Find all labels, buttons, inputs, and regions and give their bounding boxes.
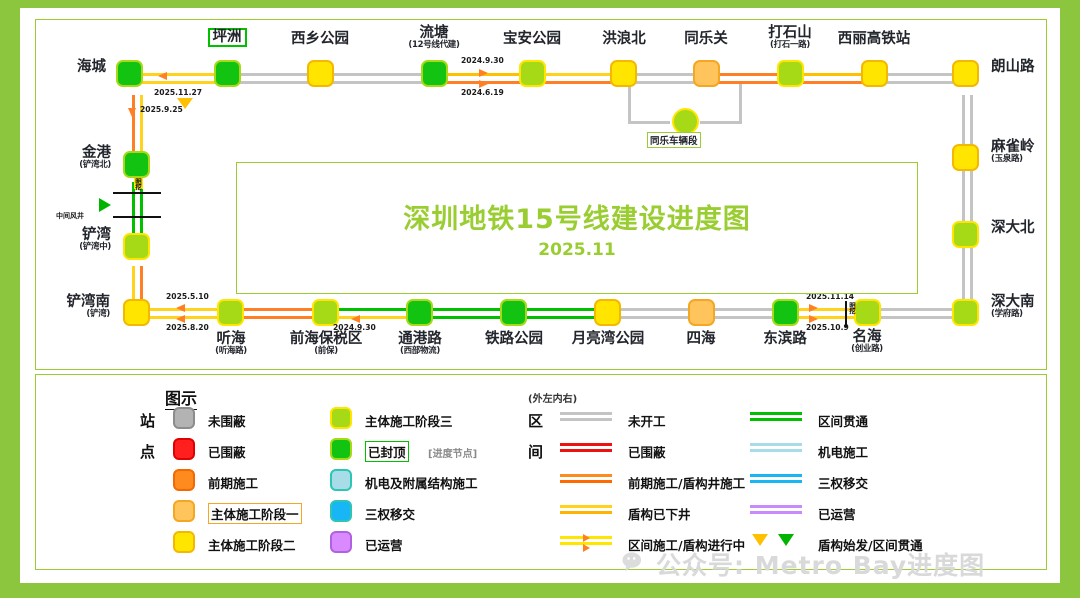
station-shendanan[interactable]	[952, 299, 979, 326]
track-honglang-tongle-outer	[634, 73, 697, 76]
track-xili-langshan-outer	[883, 73, 955, 76]
label-pingzhou: 坪洲	[187, 28, 267, 47]
label-haicheng: 海城	[26, 60, 106, 75]
station-xixianggongyuan[interactable]	[307, 60, 334, 87]
legend-arrow-section-in-progress-2	[583, 544, 590, 552]
track-jingang-chanwan-outer	[132, 182, 135, 238]
legend-label-station-preliminary: 前期施工	[208, 473, 258, 492]
track-jingang-chanwan-inner	[140, 182, 143, 238]
label-open-cut-minghai: 明挖	[848, 302, 857, 313]
date-2024-9-30b: 2024.9.30	[333, 323, 376, 332]
track-depot-right-vertical	[739, 84, 742, 124]
legend-side-char-station-1: 站	[140, 410, 155, 431]
legend-swatch-station-not-enclosed	[173, 407, 195, 429]
legend-label-station-capped: 已封顶	[365, 441, 409, 462]
station-maqueling[interactable]	[952, 144, 979, 171]
label-chanwan: 铲湾 (铲湾中)	[26, 228, 111, 251]
label-qianhaibaoshuiqu-sub: (前保)	[276, 347, 376, 356]
label-tonggangelu-sub: (西部物流)	[370, 347, 470, 356]
station-chanwannan[interactable]	[123, 299, 150, 326]
title-box: 深圳地铁15号线建设进度图 2025.11	[236, 162, 918, 294]
track-chanwannan-tinghai-inner	[149, 316, 224, 319]
station-langshanlu[interactable]	[952, 60, 979, 87]
legend-label-handover: 三权移交	[818, 473, 868, 492]
track-dashishan-xili-inner	[799, 81, 865, 84]
legend-label-station-operating: 已运营	[365, 535, 403, 554]
arrow-right-liutang-1	[479, 69, 488, 77]
legend-swatch-station-main-phase2	[173, 531, 195, 553]
label-baoangongyuan: 宝安公园	[482, 32, 582, 47]
station-tongle-depot[interactable]	[672, 108, 699, 135]
station-tongleguan[interactable]	[693, 60, 720, 87]
legend-label-station-enclosed: 已围蔽	[208, 442, 246, 461]
label-tinghai-main: 听海	[181, 332, 281, 347]
legend-label-shield-lowered: 盾构已下井	[628, 504, 691, 523]
legend-swatch-station-enclosed	[173, 438, 195, 460]
label-langshanlu: 朗山路	[991, 60, 1035, 75]
track-depot-left-horizontal	[628, 121, 670, 124]
label-pingzhou-main: 坪洲	[208, 28, 247, 47]
track-chanwannan-tinghai-outer	[149, 308, 224, 311]
track-tonggang-tielu-outer	[431, 308, 506, 311]
track-minghai-shendanan-inner	[878, 316, 956, 319]
label-baoangongyuan-main: 宝安公园	[482, 32, 582, 47]
legend-line-preliminary-shaft	[560, 474, 612, 486]
station-pingzhou[interactable]	[214, 60, 241, 87]
legend-swatch-station-preliminary	[173, 469, 195, 491]
label-xixianggongyuan-main: 西乡公园	[270, 32, 370, 47]
legend-label-not-started: 未开工	[628, 411, 666, 430]
label-langshanlu-main: 朗山路	[991, 60, 1035, 75]
label-jingang-sub: (铲湾北)	[26, 161, 111, 170]
shaft-line-top	[113, 192, 161, 194]
legend-inner-outer-note: (外左内右)	[528, 390, 577, 405]
arrow-left-haicheng-1	[158, 72, 167, 80]
label-tonggangelu-main: 通港路	[370, 332, 470, 347]
arrow-left-tonggang	[351, 315, 360, 323]
station-yueliangwangongyuan[interactable]	[594, 299, 621, 326]
station-haicheng[interactable]	[116, 60, 143, 87]
legend-side-char-section-1: 区	[528, 410, 543, 431]
label-shendanan: 深大南 (学府路)	[991, 295, 1035, 318]
track-tonggang-tielu-inner	[431, 316, 506, 319]
label-shendanan-sub: (学府路)	[991, 310, 1035, 319]
legend-label-station-main-phase2: 主体施工阶段二	[208, 535, 296, 554]
station-xiligaotiezhan[interactable]	[861, 60, 888, 87]
track-tielu-yueliang-inner	[525, 316, 600, 319]
arrow-right-dongbin-1	[809, 304, 818, 312]
label-shendabei-main: 深大北	[991, 221, 1035, 236]
label-chanwannan: 铲湾南 (铲湾)	[10, 295, 110, 318]
station-baoangongyuan[interactable]	[519, 60, 546, 87]
legend-swatch-station-mep	[330, 469, 352, 491]
track-tinghai-qianhai-inner	[242, 316, 318, 319]
label-qianhaibaoshuiqu: 前海保税区 (前保)	[276, 332, 376, 355]
date-2024-9-30: 2024.9.30	[461, 56, 504, 65]
route-map-panel: 海城 坪洲 西乡公园 流塘 (12号线代建) 宝安公园 洪浪北 同乐关 打石山 …	[35, 19, 1047, 370]
legend-line-handover	[750, 474, 802, 486]
page-title: 深圳地铁15号线建设进度图	[403, 197, 751, 236]
track-sihai-dongbin-outer	[713, 308, 779, 311]
legend-label-station-not-enclosed: 未围蔽	[208, 411, 246, 430]
track-haicheng-pingzhou-outer	[140, 73, 220, 76]
track-tongle-dashishan-outer	[715, 73, 781, 76]
legend-label-section-enclosed: 已围蔽	[628, 442, 666, 461]
legend-label-preliminary-shaft: 前期施工/盾构井施工	[628, 473, 745, 492]
label-open-cut-jingang: 明挖	[134, 178, 143, 189]
station-jingang[interactable]	[123, 151, 150, 178]
legend-side-char-station-2: 点	[140, 441, 155, 462]
station-liutang[interactable]	[421, 60, 448, 87]
track-baoan-honglang-outer	[543, 73, 616, 76]
legend-marker-shield-launch	[752, 534, 768, 546]
label-liutang-sub: (12号线代建)	[384, 41, 484, 50]
marker-shield-through-left	[99, 198, 111, 212]
track-dongbin-minghai-inner	[797, 316, 859, 319]
label-shendabei: 深大北	[991, 221, 1035, 236]
station-tonggangelu[interactable]	[406, 299, 433, 326]
legend-line-not-started	[560, 412, 612, 424]
watermark-text: 公众号: Metro Bay进度图	[656, 546, 985, 582]
label-tinghai: 听海 (听海路)	[181, 332, 281, 355]
legend-progress-node-note: [进度节点]	[428, 445, 477, 460]
station-dashishan[interactable]	[777, 60, 804, 87]
track-tielu-yueliang-outer	[525, 308, 600, 311]
legend-swatch-station-capped	[330, 438, 352, 460]
track-tinghai-qianhai-outer	[242, 308, 318, 311]
track-sihai-dongbin-inner	[713, 316, 779, 319]
label-tinghai-sub: (听海路)	[181, 347, 281, 356]
label-maqueling-sub: (玉泉路)	[991, 155, 1035, 164]
label-jingang: 金港 (铲湾北)	[26, 146, 111, 169]
station-tielugongyuan[interactable]	[500, 299, 527, 326]
page-subtitle: 2025.11	[538, 240, 615, 260]
label-tongle-depot: 同乐车辆段	[647, 132, 701, 148]
label-chanwan-main: 铲湾	[26, 228, 111, 243]
progress-map-page: 海城 坪洲 西乡公园 流塘 (12号线代建) 宝安公园 洪浪北 同乐关 打石山 …	[0, 0, 1080, 598]
label-yueliangwangongyuan-main: 月亮湾公园	[548, 332, 668, 347]
legend-swatch-station-main-phase1	[173, 500, 195, 522]
station-qianhaibaoshuiqu[interactable]	[312, 299, 339, 326]
track-yueliang-sihai-outer	[619, 308, 694, 311]
track-xili-langshan-inner	[883, 81, 955, 84]
label-tonggangelu: 通港路 (西部物流)	[370, 332, 470, 355]
label-middle-vent-shaft: 中间风井	[56, 211, 84, 221]
track-depot-right-horizontal	[700, 121, 742, 124]
track-right-column-inner	[970, 95, 973, 317]
legend-line-section-through	[750, 412, 802, 424]
label-chanwannan-main: 铲湾南	[10, 295, 110, 310]
track-haicheng-jingang-outer	[132, 95, 135, 157]
arrow-down-jingang	[128, 108, 136, 117]
arrow-left-tinghai-2	[176, 315, 185, 323]
label-liutang: 流塘 (12号线代建)	[384, 26, 484, 49]
label-minghai-main: 名海	[817, 330, 917, 345]
station-tinghai[interactable]	[217, 299, 244, 326]
legend-line-mep	[750, 443, 802, 455]
label-minghai-sub: (创业路)	[817, 345, 917, 354]
arrow-right-liutang-2	[479, 80, 488, 88]
legend-label-station-main-phase1: 主体施工阶段一	[208, 503, 302, 524]
wechat-icon	[622, 552, 648, 573]
legend-arrow-section-in-progress-1	[583, 534, 590, 542]
label-xiligaotiezhan: 西丽高铁站	[814, 32, 934, 47]
arrow-left-tinghai-1	[176, 304, 185, 312]
legend-side-char-section-2: 间	[528, 441, 543, 462]
legend-marker-section-through	[778, 534, 794, 546]
label-yueliangwangongyuan: 月亮湾公园	[548, 332, 668, 347]
track-qianhai-tonggang-outer	[337, 308, 412, 311]
label-xixianggongyuan: 西乡公园	[270, 32, 370, 47]
date-2025-8-20: 2025.8.20	[166, 323, 209, 332]
label-haicheng-main: 海城	[26, 60, 106, 75]
legend-swatch-station-main-phase3	[330, 407, 352, 429]
date-2025-9-25: 2025.9.25	[140, 105, 183, 114]
legend-line-shield-lowered	[560, 505, 612, 517]
legend-swatch-station-handover	[330, 500, 352, 522]
label-qianhaibaoshuiqu-main: 前海保税区	[276, 332, 376, 347]
date-2025-10-9: 2025.10.9	[806, 323, 849, 332]
station-honglangbei[interactable]	[610, 60, 637, 87]
date-2025-11-27: 2025.11.27	[154, 88, 202, 97]
label-jingang-main: 金港	[26, 146, 111, 161]
label-liutang-main: 流塘	[384, 26, 484, 41]
legend-label-mep: 机电施工	[818, 442, 868, 461]
legend-label-station-main-phase3: 主体施工阶段三	[365, 411, 453, 430]
track-baoan-honglang-inner	[543, 81, 616, 84]
track-tongle-dashishan-inner	[715, 81, 781, 84]
track-yueliang-sihai-inner	[619, 316, 694, 319]
legend-line-operating	[750, 505, 802, 517]
legend-label-operating: 已运营	[818, 504, 856, 523]
station-minghai[interactable]	[854, 299, 881, 326]
shaft-line-bottom	[113, 216, 161, 218]
legend-label-section-through: 区间贯通	[818, 411, 868, 430]
arrow-right-dongbin-2	[809, 315, 818, 323]
legend-swatch-station-operating	[330, 531, 352, 553]
station-chanwan[interactable]	[123, 233, 150, 260]
track-haicheng-pingzhou-inner	[140, 81, 220, 84]
date-2024-6-19: 2024.6.19	[461, 88, 504, 97]
track-minghai-shendanan-outer	[878, 308, 956, 311]
label-maqueling-main: 麻雀岭	[991, 140, 1035, 155]
legend-label-station-mep: 机电及附属结构施工	[365, 473, 478, 492]
track-qianhai-tonggang-inner	[337, 316, 412, 319]
station-dongbinlu[interactable]	[772, 299, 799, 326]
label-chanwannan-sub: (铲湾)	[10, 310, 110, 319]
legend-label-station-handover: 三权移交	[365, 504, 415, 523]
label-shendanan-main: 深大南	[991, 295, 1035, 310]
station-shendabei[interactable]	[952, 221, 979, 248]
track-depot-left-vertical	[628, 84, 631, 124]
station-sihai[interactable]	[688, 299, 715, 326]
label-minghai: 名海 (创业路)	[817, 330, 917, 353]
track-right-column-outer	[962, 95, 965, 317]
label-maqueling: 麻雀岭 (玉泉路)	[991, 140, 1035, 163]
label-xiligaotiezhan-main: 西丽高铁站	[814, 32, 934, 47]
legend-line-enclosed	[560, 443, 612, 455]
track-honglang-tongle-inner	[634, 81, 697, 84]
track-dashishan-xili-outer	[799, 73, 865, 76]
date-2025-5-10: 2025.5.10	[166, 292, 209, 301]
label-chanwan-sub: (铲湾中)	[26, 243, 111, 252]
